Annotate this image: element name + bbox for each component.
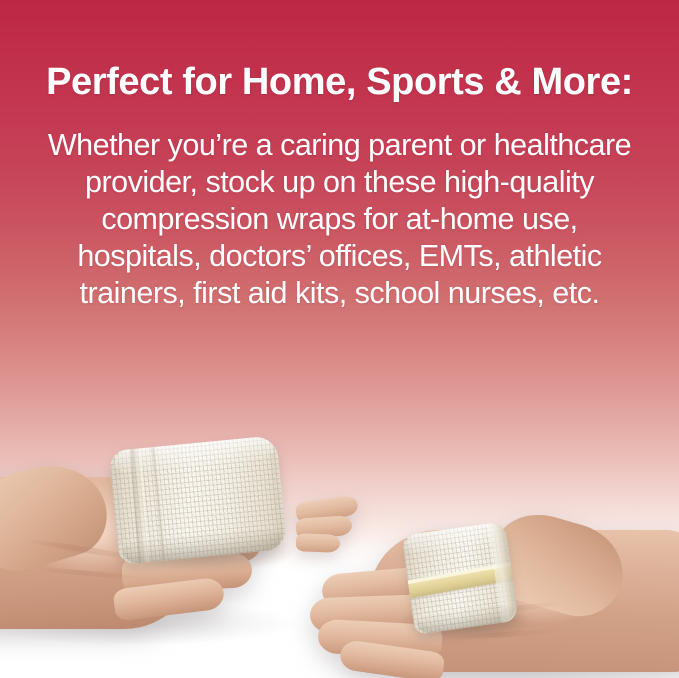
body-copy: Whether you’re a caring parent or health… — [0, 127, 679, 312]
body-line-3: compression wraps for at-home use, — [18, 201, 661, 238]
marketing-copy: Perfect for Home, Sports & More: Whether… — [0, 0, 679, 312]
headline: Perfect for Home, Sports & More: — [0, 59, 679, 106]
body-line-1: Whether you’re a caring parent or health… — [18, 127, 661, 164]
body-line-5: trainers, first aid kits, school nurses,… — [18, 275, 661, 312]
body-line-2: provider, stock up on these high-quality — [18, 164, 661, 201]
compression-wrap-roll-large — [109, 435, 287, 565]
headline-line-1: Perfect for Home, — [46, 61, 356, 103]
headline-line-2: Sports & More: — [366, 61, 633, 103]
product-banner: Perfect for Home, Sports & More: Whether… — [0, 0, 679, 678]
body-line-4: hospitals, doctors’ offices, EMTs, athle… — [18, 238, 661, 275]
compression-wrap-roll-small — [402, 521, 519, 635]
